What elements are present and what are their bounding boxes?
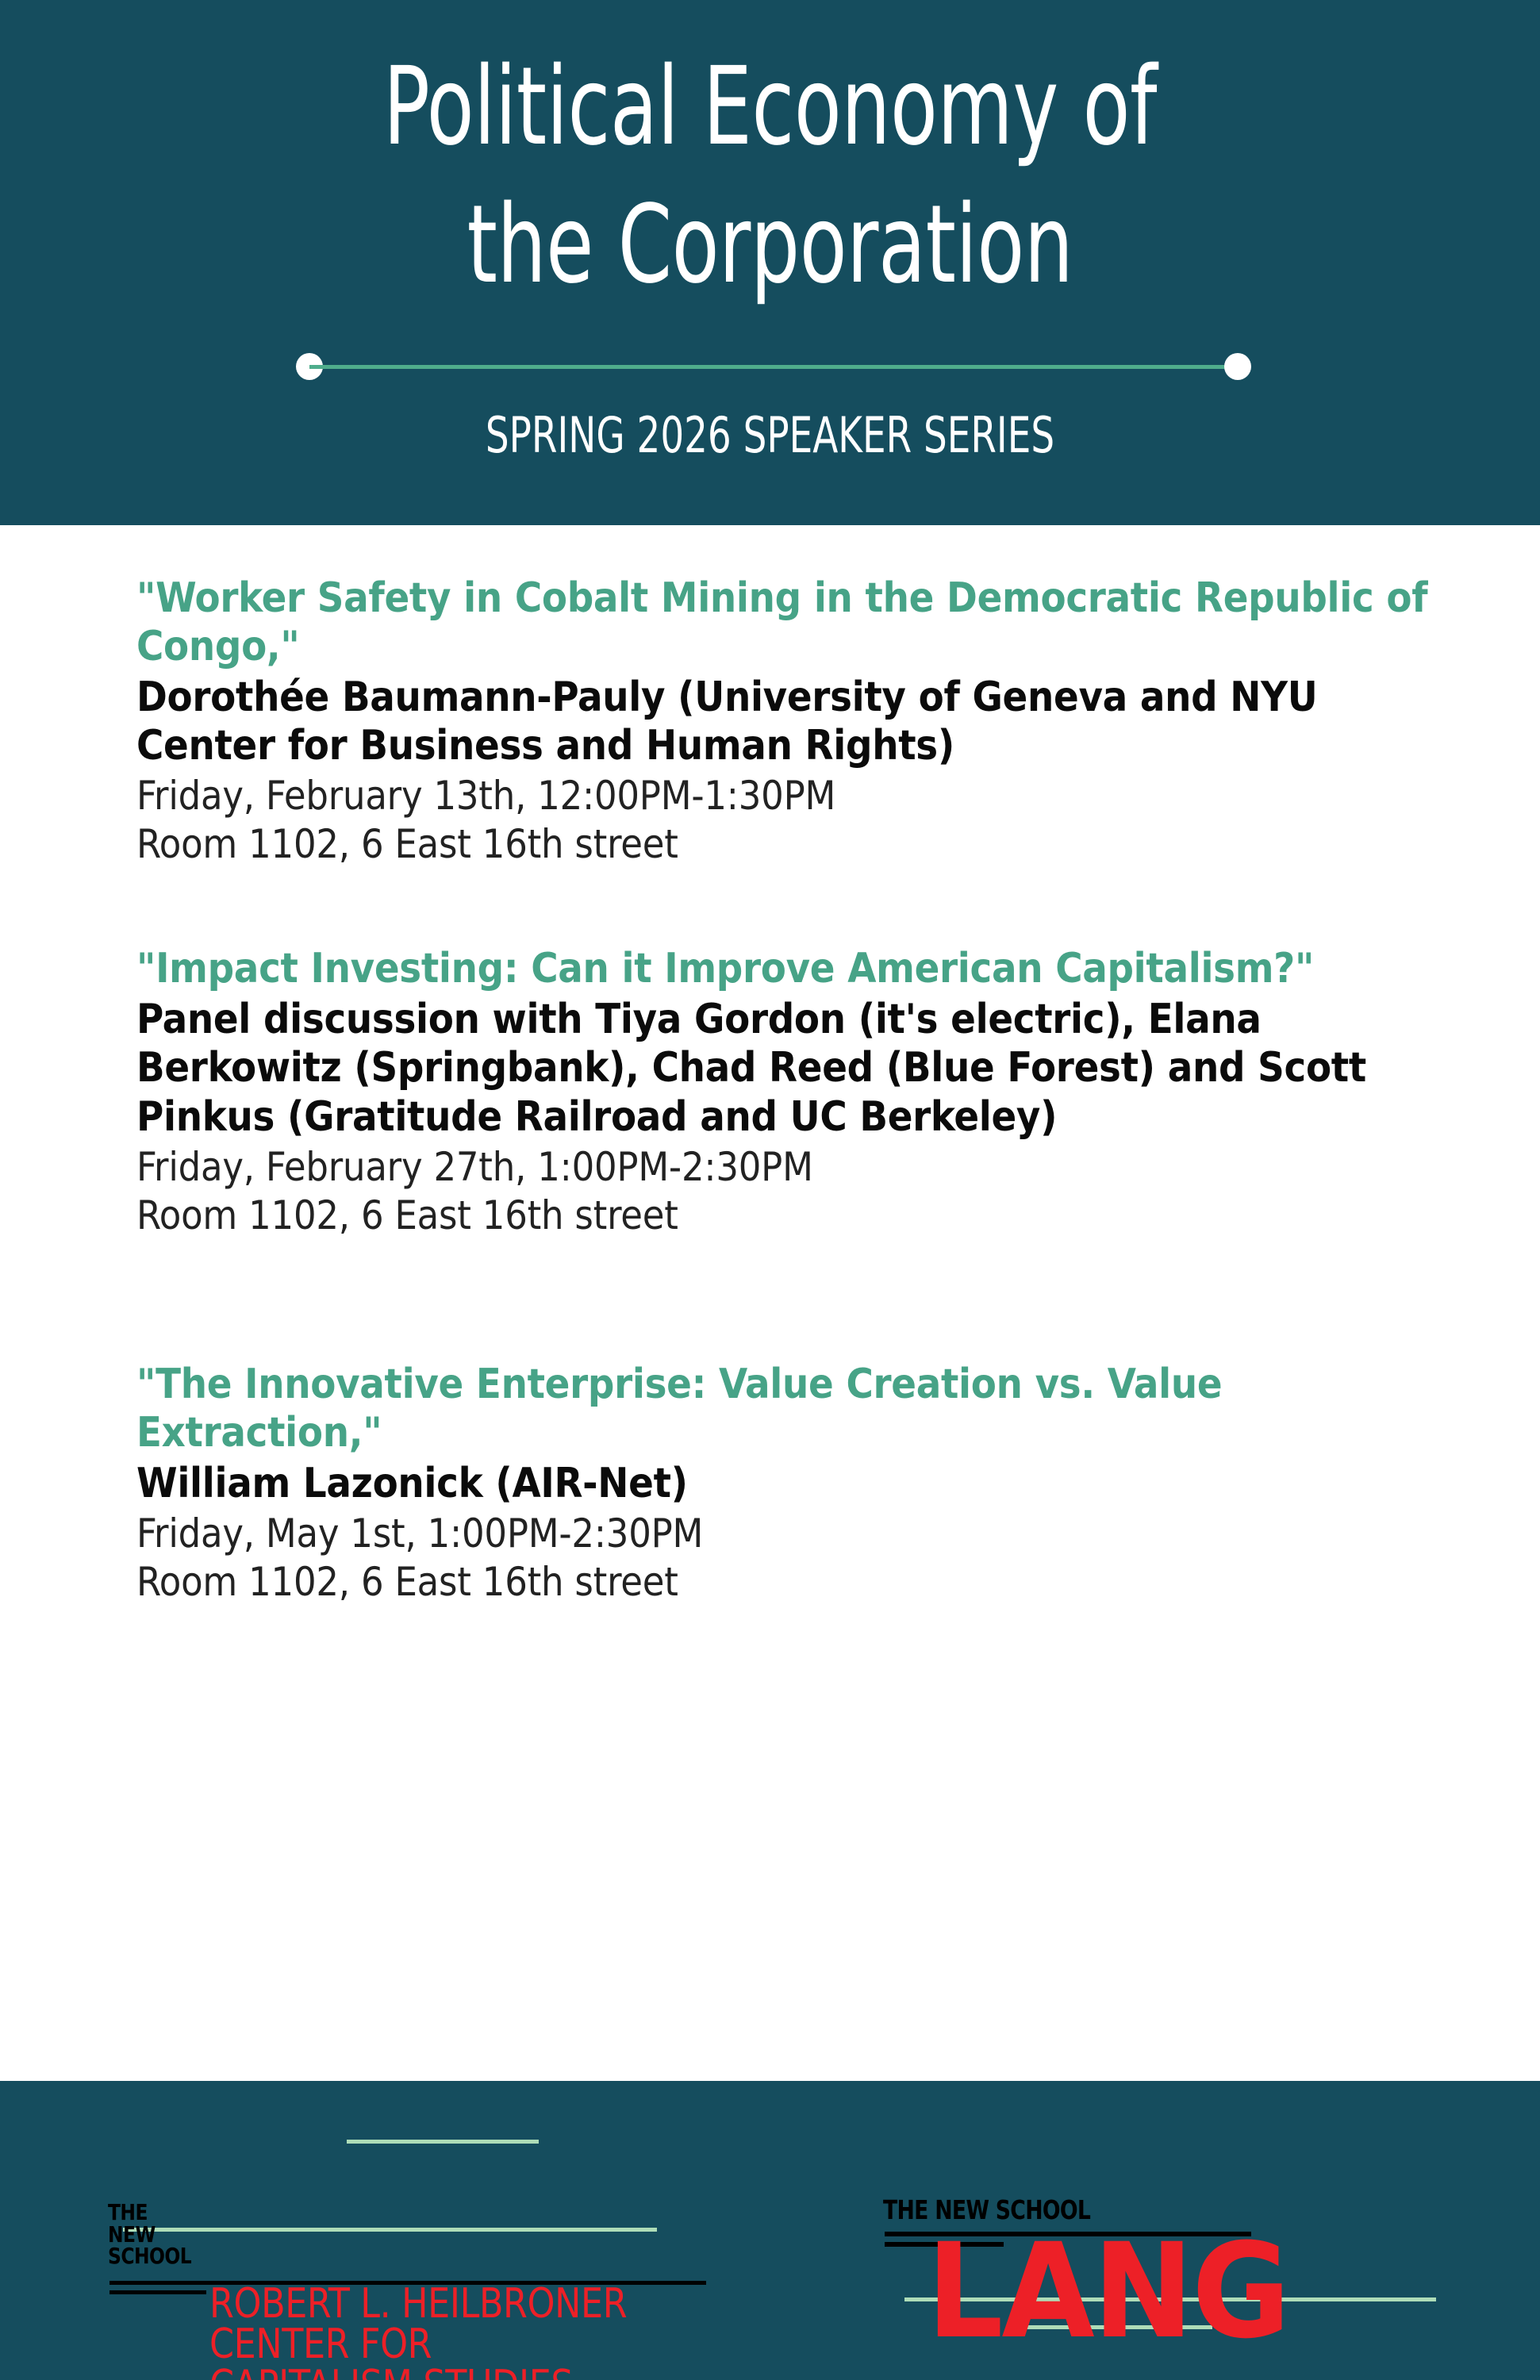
event-item: "Impact Investing: Can it Improve Americ… [136,945,1438,1239]
divider-rule [309,365,1238,369]
poster-footer-band: THE NEW SCHOOL ROBERT L. HEILBRONER CENT… [0,2081,1540,2380]
event-speaker: William Lazonick (AIR-Net) [136,1460,1438,1508]
lang-wordmark: LANG [927,2232,1288,2352]
new-school-line-1: THE [108,2201,205,2224]
lang-school-logo: THE NEW SCHOOL LANG [883,2197,1359,2355]
new-school-wordmark-stacked: THE NEW SCHOOL [108,2201,213,2267]
event-title: "The Innovative Enterprise: Value Creati… [136,1361,1438,1458]
event-spacer [136,1316,1438,1361]
event-location: Room 1102, 6 East 16th street [136,1558,1438,1606]
heilbroner-rule-short [109,2290,206,2294]
events-list: "Worker Safety in Cobalt Mining in the D… [136,574,1438,1606]
new-school-line-2: NEW [108,2224,205,2246]
poster-header-band: Political Economy of the Corporation SPR… [0,0,1540,525]
event-datetime: Friday, May 1st, 1:00PM-2:30PM [136,1510,1438,1558]
page-title: Political Economy of the Corporation [154,38,1386,314]
heilbroner-center-logo: THE NEW SCHOOL ROBERT L. HEILBRONER CENT… [108,2201,727,2368]
events-section: "Worker Safety in Cobalt Mining in the D… [0,525,1540,2081]
event-item: "Worker Safety in Cobalt Mining in the D… [136,574,1438,869]
event-location: Room 1102, 6 East 16th street [136,820,1438,869]
event-location: Room 1102, 6 East 16th street [136,1192,1438,1240]
header-divider [296,353,1251,380]
event-title: "Impact Investing: Can it Improve Americ… [136,945,1438,993]
event-title: "Worker Safety in Cobalt Mining in the D… [136,574,1438,672]
event-datetime: Friday, February 27th, 1:00PM-2:30PM [136,1143,1438,1192]
event-speaker: Panel discussion with Tiya Gordon (it's … [136,996,1438,1142]
event-speaker: Dorothée Baumann-Pauly (University of Ge… [136,674,1438,771]
decorative-line-top-short [347,2140,539,2144]
event-item: "The Innovative Enterprise: Value Creati… [136,1361,1438,1606]
page-subtitle: SPRING 2026 SPEAKER SERIES [123,406,1416,464]
heilbroner-center-name: ROBERT L. HEILBRONER CENTER FOR CAPITALI… [209,2284,627,2380]
divider-dot-right-icon [1224,353,1251,380]
new-school-line-3: SCHOOL [108,2245,205,2267]
event-datetime: Friday, February 13th, 12:00PM-1:30PM [136,772,1438,820]
